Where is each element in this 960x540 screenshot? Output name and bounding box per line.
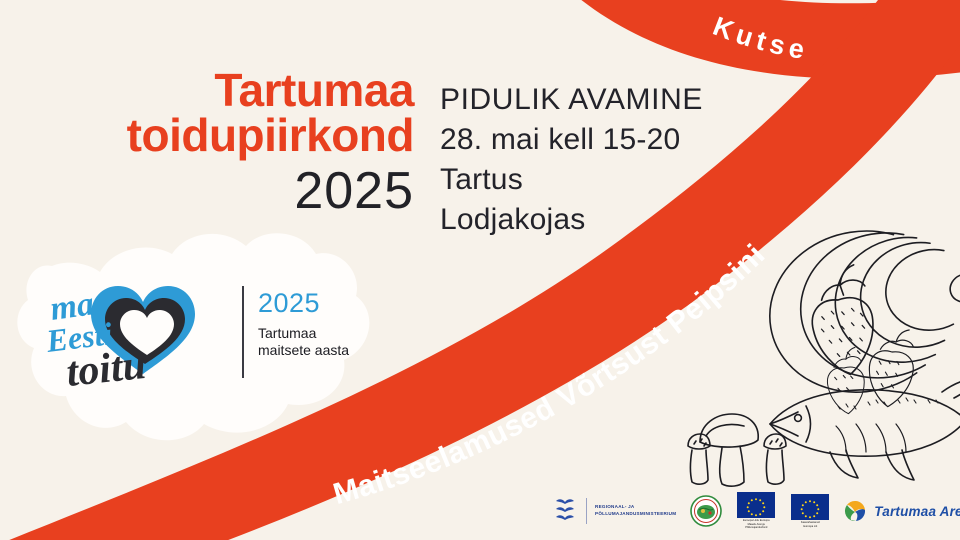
logo-side-text: 2025 Tartumaa maitsete aasta: [258, 290, 349, 360]
eu-cofunding-logo: Kaasrahastanud Euroopa Liit: [790, 494, 830, 529]
ministry-logo: REGIONAAL- JA PÕLLUMAJANDUSMINISTEERIUM: [552, 491, 676, 531]
headline-line-2: toidupiirkond: [24, 113, 414, 158]
eu-caption-line-1: Euroopa Liidu Euroopa: [743, 519, 770, 522]
ministry-line-2: PÕLLUMAJANDUSMINISTEERIUM: [595, 511, 676, 518]
headline-line-1: Tartumaa: [24, 68, 414, 113]
eu-caption-line-2: Euroopa Liit: [803, 525, 817, 528]
headline-year: 2025: [24, 162, 414, 222]
event-title: PIDULIK AVAMINE: [440, 80, 780, 120]
ministry-line-1: REGIONAAL- JA: [595, 504, 676, 511]
tartumaa-arenduskeskus-logo: Tartumaa Arendusse: [844, 491, 960, 531]
event-date: 28. mai kell 15-20: [440, 120, 780, 160]
eu-funding-logo: Euroopa Liidu Euroopa Maaelu Arengu Põll…: [736, 492, 776, 531]
logo-word-toitu: toitu: [64, 342, 148, 392]
poster-canvas: Kutse Maitseelamused Võrtsust Peipsini: [0, 0, 960, 540]
ma-eesti-toitu-logo: ma Eesti toitu 2025 Tartumaa maitsete aa…: [46, 276, 356, 392]
event-venue: Lodjakojas: [440, 200, 780, 240]
logo-mark: ma Eesti toitu: [46, 276, 226, 392]
eu-caption-1: Euroopa Liidu Euroopa Maaelu Arengu Põll…: [736, 519, 776, 531]
logo-divider: [242, 286, 244, 378]
eu-caption-2: Kaasrahastanud Euroopa Liit: [790, 521, 830, 529]
leader-programme-icon: [690, 491, 722, 531]
event-city: Tartus: [440, 160, 780, 200]
footer-logo-strip: REGIONAAL- JA PÕLLUMAJANDUSMINISTEERIUM: [552, 489, 960, 533]
headline-block: Tartumaa toidupiirkond 2025: [24, 68, 414, 222]
eu-caption-line-3: Põllumajandusfond: [745, 526, 767, 529]
tartumaa-swirl-icon: [844, 499, 868, 523]
ministry-name: REGIONAAL- JA PÕLLUMAJANDUSMINISTEERIUM: [595, 504, 676, 517]
tartumaa-logo-label: Tartumaa Arendusse: [874, 504, 960, 519]
logo-subtitle-line-2: maitsete aasta: [258, 342, 349, 359]
event-info-block: PIDULIK AVAMINE 28. mai kell 15-20 Tartu…: [440, 80, 780, 240]
eu-caption-line-1: Kaasrahastanud: [801, 521, 820, 524]
logo-year: 2025: [258, 290, 349, 317]
logo-subtitle-line-1: Tartumaa: [258, 325, 349, 342]
estonia-coat-of-arms-icon: [552, 496, 578, 526]
eu-flag-icon: [737, 492, 775, 518]
ministry-divider: [586, 498, 587, 524]
eu-flag-icon: [791, 494, 829, 520]
